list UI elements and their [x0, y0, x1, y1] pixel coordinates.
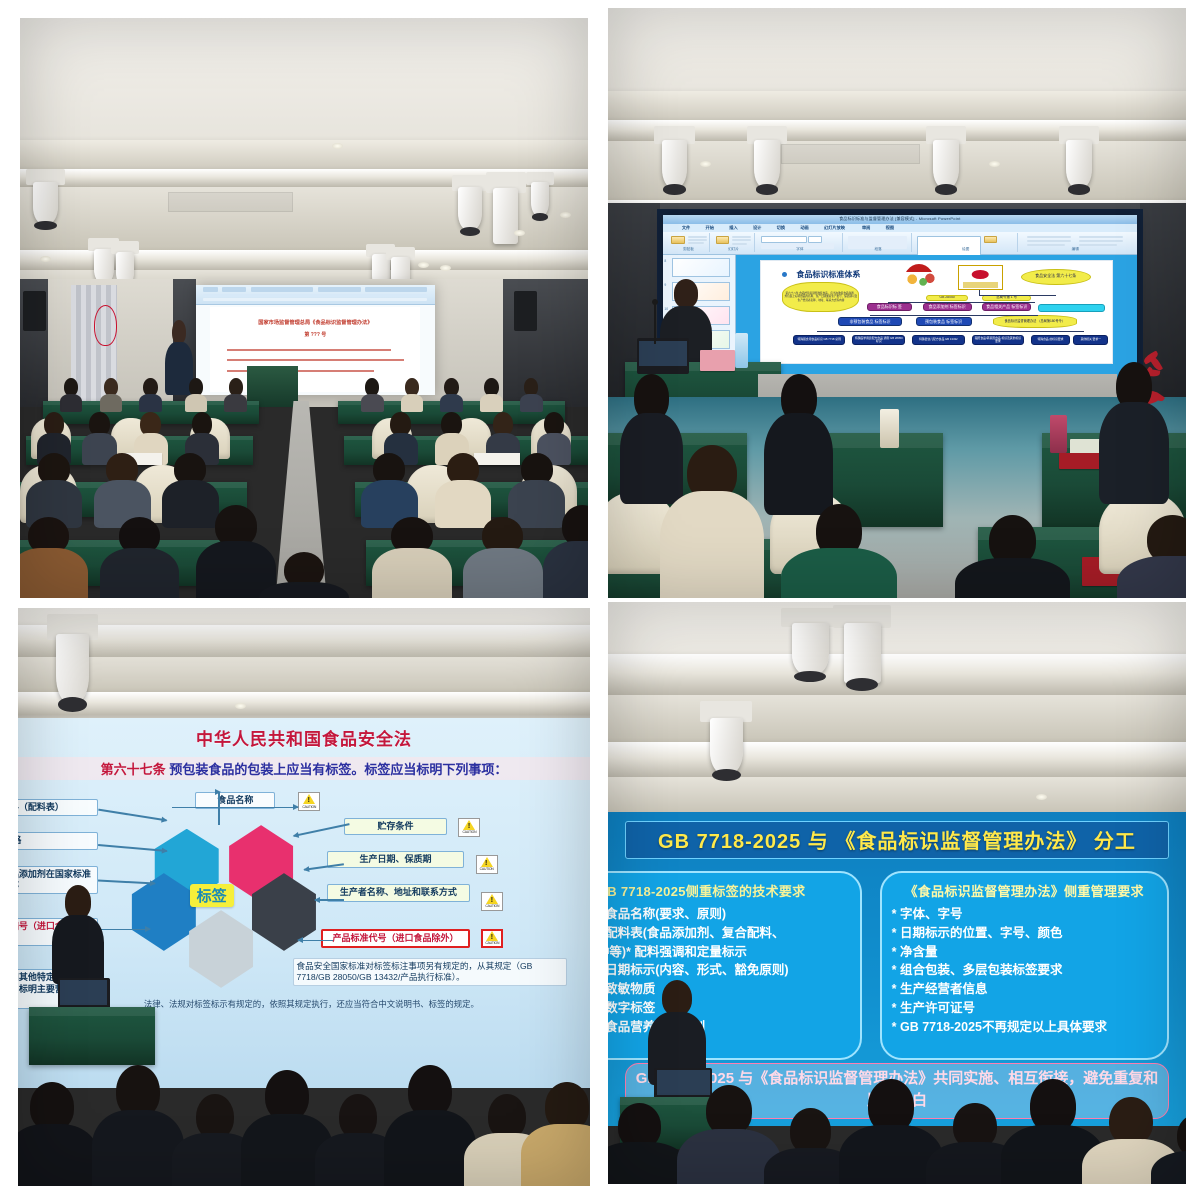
spotlight-icon	[781, 608, 839, 678]
list-item: * 生产经营者信息	[892, 980, 1157, 999]
ribbon-group-drawing: 绘图	[914, 233, 1018, 252]
ceiling-beam	[20, 140, 588, 169]
arrow-connector	[98, 879, 155, 883]
spotlight-icon	[747, 126, 787, 191]
list-item: * 生产许可证号	[892, 999, 1157, 1018]
document-title-line2: 第 ??? 号	[304, 331, 326, 338]
list-item: * 组合包装、多层包装标签要求	[892, 961, 1157, 980]
spotlight-icon	[700, 701, 752, 777]
downlight-icon	[1036, 794, 1047, 800]
node-law-article-68: 第六十八条 食品经营者销售散装食品，应当在散装食品容器、外包装上标明食品的名称、…	[782, 282, 859, 313]
node-infant-formula: 特殊婴幼儿配方食品 GB 13432	[912, 335, 965, 345]
node-standard-code-1: GB 28050	[926, 295, 968, 301]
wall-speaker	[23, 291, 46, 332]
ceiling-soffit	[608, 695, 1186, 742]
audience-person	[1099, 362, 1168, 504]
connector-line	[870, 315, 1038, 316]
connector-line	[888, 302, 889, 304]
node-special-food-req: 特殊食品 的标识要求	[1031, 335, 1070, 345]
ceiling-vent	[781, 144, 920, 165]
caution-icon: CAUTION	[481, 929, 503, 948]
audience-person	[139, 378, 162, 413]
law-book-emblem	[958, 265, 1004, 289]
subtitle-article: 第六十七条	[101, 762, 166, 777]
slide-canvas[interactable]: 食品标识标准体系 食品安全法 第六十七条 第六十八条 食品经营者销售散装食品，应…	[760, 260, 1112, 364]
slide-subtitle: 第六十七条 预包装食品的包装上应当有标签。标签应当标明下列事项：	[18, 757, 590, 780]
node-medical-food: 特殊医学用途配方食品 通则 GB 28050 标识	[852, 335, 905, 345]
right-pane-list: * 字体、字号 * 日期标示的位置、字号、颜色 * 净含量 * 组合包装、多层包…	[892, 905, 1157, 1036]
arrow-connector	[298, 940, 332, 942]
photo-collage: 国家市场监督管理总局《食品标识监督管理办法》 第 ??? 号	[0, 0, 1200, 1200]
ceiling-soffit	[18, 657, 590, 692]
left-pane-list: * 食品名称(要求、原则) * 配料表(食品添加剂、复合配料、 种等)* 配料强…	[608, 905, 850, 1036]
audience-person	[18, 1082, 98, 1186]
microphone-icon	[654, 303, 656, 344]
list-item: * GB 7718-2025不再规定以上具体要求	[892, 1018, 1157, 1037]
red-notebook	[1059, 453, 1105, 468]
wall-speaker	[514, 291, 537, 332]
ceiling-soffit	[608, 777, 1186, 812]
ribbon: 剪贴板 幻灯片 字体	[663, 232, 1137, 255]
arrow-connector	[293, 823, 349, 836]
list-item: * 数字标签	[608, 999, 850, 1018]
list-item: * 食品名称(要求、原则)	[608, 905, 850, 924]
slide-thumbnail[interactable]	[672, 258, 730, 277]
ribbon-group-slides: 幻灯片	[713, 233, 756, 252]
arrow-connector	[98, 809, 166, 821]
slide-title: 食品标识标准体系	[796, 269, 860, 280]
list-item: * 致敏物质	[608, 980, 850, 999]
spotlight-icon	[47, 614, 98, 706]
thermos-cup	[880, 409, 900, 447]
right-item-storage: 贮存条件	[344, 818, 447, 835]
connector-line	[817, 331, 1083, 332]
audience-person	[440, 378, 463, 413]
right-item-production-date: 生产日期、保质期	[327, 851, 464, 868]
slide-title: 中华人民共和国食品安全法	[18, 725, 590, 750]
tab-slideshow[interactable]: 幻灯片放映	[824, 225, 845, 231]
tab-review[interactable]: 审阅	[862, 225, 870, 231]
wall-emblem	[94, 305, 117, 346]
audience-person	[92, 1065, 184, 1186]
tab-insert[interactable]: 插入	[729, 225, 737, 231]
downlight-icon	[440, 265, 451, 271]
document-ribbon	[196, 285, 435, 305]
node-other-req: 其他相关 要求一	[1073, 335, 1108, 345]
spotlight-icon	[926, 126, 966, 191]
caution-icon: CAUTION	[298, 792, 320, 811]
ceiling-beam	[608, 120, 1186, 141]
list-item: * 日期标示(内容、形式、豁免原则)	[608, 961, 850, 980]
connector-line	[888, 302, 1035, 303]
pink-nameplate	[700, 350, 735, 371]
audience-person	[764, 374, 833, 516]
left-item-ingredients: 成分或者配料（配料表）	[18, 799, 98, 816]
audience-person	[463, 517, 543, 598]
document-text-line	[227, 359, 403, 361]
downlight-icon	[332, 143, 343, 149]
food-illustration	[902, 272, 936, 290]
arrow-connector	[172, 807, 298, 809]
audience-person	[401, 378, 424, 413]
connector-line	[979, 295, 1056, 296]
downlight-icon	[40, 256, 51, 262]
audience-person	[100, 378, 123, 413]
node-standard-code-2: 总局令第 1 号	[982, 295, 1031, 301]
list-item: * 字体、字号	[892, 905, 1157, 924]
center-label-tag: 标签	[190, 884, 234, 907]
node-non-prepackaged: 非预包装食品 标签标识	[838, 317, 901, 326]
audience-person	[955, 515, 1071, 598]
tab-design[interactable]: 设计	[753, 225, 761, 231]
audience-person	[224, 378, 247, 413]
left-pane-heading: GB 7718-2025侧重标签的技术要求	[608, 881, 850, 900]
thumbnail-number: 8	[664, 259, 666, 263]
ceiling-beam	[608, 91, 1186, 121]
audience-person	[361, 378, 384, 413]
ribbon-group-font: 字体	[758, 233, 843, 252]
node-related-product-label: 食品相关产品 标签标识	[982, 303, 1031, 311]
ceiling-beam	[18, 625, 590, 657]
audience-person	[372, 517, 452, 598]
connector-line	[947, 302, 948, 304]
list-item: * 食品营养标示原则	[608, 1018, 850, 1037]
tab-transitions[interactable]: 切换	[777, 225, 785, 231]
slide-title: GB 7718-2025 与 《食品标识监督管理办法》 分工	[625, 821, 1168, 859]
node-supervision-measure: 食品标识监督管理办法 （总局第180号令）	[993, 315, 1077, 327]
ceiling-vent	[168, 192, 293, 212]
laptop	[637, 338, 689, 373]
spotlight-icon	[526, 172, 554, 218]
audience-person	[1151, 1114, 1186, 1184]
podium-table	[29, 1007, 155, 1065]
window-title: 食品标识标准与监督管理办法 [兼容模式] - Microsoft PowerPo…	[839, 216, 960, 222]
downlight-icon	[418, 262, 429, 268]
left-pane: GB 7718-2025侧重标签的技术要求 * 食品名称(要求、原则) * 配料…	[608, 871, 862, 1060]
photo-top-right: 食品标识标准与监督管理办法 [兼容模式] - Microsoft PowerPo…	[608, 8, 1186, 598]
slide-footnote: 食品安全国家标准对标签标注事项另有规定的，从其规定（GB 7718/GB 280…	[293, 958, 568, 985]
tab-home[interactable]: 开始	[706, 225, 714, 231]
arrow-connector	[98, 929, 149, 931]
photo-bottom-right: GB 7718-2025 与 《食品标识监督管理办法》 分工 GB 7718-2…	[608, 602, 1186, 1184]
caution-icon: CAUTION	[458, 818, 480, 837]
node-side-note	[1038, 304, 1105, 312]
right-pane: 《食品标识监督管理办法》侧重管理要求 * 字体、字号 * 日期标示的位置、字号、…	[880, 871, 1169, 1060]
document-text-line	[227, 349, 391, 351]
node-label-mark: 食品标识标 签	[867, 303, 913, 311]
spotlight-icon	[1059, 126, 1099, 191]
ribbon-group-paragraph: 段落	[845, 233, 911, 252]
audience-person	[384, 1065, 476, 1186]
arrow-connector	[218, 792, 220, 825]
downlight-icon	[514, 230, 525, 236]
ribbon-group-editing: 编辑	[1023, 233, 1127, 252]
subtitle-text: 预包装食品的包装上应当有标签。标签应当标明下列事项：	[169, 762, 507, 777]
node-prepackaged: 预包装食品 标签标识	[916, 317, 972, 326]
audience-person	[520, 378, 543, 413]
slide-footnote-secondary: 法律、法规对标签标示有规定的，依照其规定执行，还应当符合中文说明书、标签的规定。	[144, 999, 544, 1010]
spotlight-icon	[452, 175, 489, 233]
audience-person	[100, 517, 180, 598]
projector	[486, 172, 526, 247]
thermos-cup	[1050, 415, 1067, 453]
right-item-standard-code: 产品标准代号（进口食品除外）	[321, 929, 470, 948]
audience-person	[781, 504, 897, 598]
right-pane-heading: 《食品标识监督管理办法》侧重管理要求	[892, 881, 1157, 900]
audience-person	[1117, 515, 1186, 598]
audience-person	[259, 552, 350, 598]
list-item: * 日期标示的位置、字号、颜色	[892, 924, 1157, 943]
photo-bottom-left: 中华人民共和国食品安全法 第六十七条 预包装食品的包装上应当有标签。标签应当标明…	[18, 608, 590, 1186]
water-bottle	[735, 333, 748, 368]
document-title-line1: 国家市场监督管理总局《食品标识监督管理办法》	[258, 319, 372, 326]
audience-person	[60, 378, 83, 413]
audience-person	[521, 1082, 590, 1186]
arrow-connector	[315, 899, 344, 901]
presenter	[52, 885, 103, 983]
tab-file[interactable]: 文件	[682, 225, 690, 231]
list-item: 种等)* 配料强调和定量标示	[608, 943, 850, 962]
audience-person	[543, 505, 588, 598]
node-additive-label: 食品添加剂 标签标识	[923, 303, 972, 311]
connector-line	[1007, 302, 1008, 304]
ribbon-group-clipboard: 剪贴板	[668, 233, 711, 252]
audience-person	[20, 517, 88, 598]
list-item: * 净含量	[892, 943, 1157, 962]
list-item: * 配料表(食品添加剂、复合配料、	[608, 924, 850, 943]
node-food-safety-law: 食品安全法 第六十七条	[1021, 269, 1091, 285]
tab-animations[interactable]: 动画	[800, 225, 808, 231]
caution-icon: CAUTION	[481, 892, 503, 911]
window-titlebar: 食品标识标准与监督管理办法 [兼容模式] - Microsoft PowerPo…	[663, 215, 1137, 225]
projector	[833, 605, 891, 686]
node-irradiated-gmo: 辐照食品/转基因食品 标识及其他标识要求	[972, 335, 1025, 345]
slide-title-bullet-icon	[782, 272, 787, 277]
right-item-producer-info: 生产者名称、地址和联系方式	[327, 884, 470, 901]
audience-person	[660, 445, 764, 598]
left-item-netcontent: 净含量 、规格	[18, 832, 98, 849]
spotlight-icon	[654, 126, 694, 191]
audience-person	[480, 378, 503, 413]
photo-top-left: 国家市场监督管理总局《食品标识监督管理办法》 第 ??? 号	[20, 18, 588, 598]
ceiling-beam	[18, 692, 590, 715]
ceiling-beam	[608, 654, 1186, 695]
spotlight-icon	[26, 169, 66, 227]
audience-person	[185, 378, 208, 413]
ceiling-beam	[608, 742, 1186, 777]
ribbon-tabs: 文件 开始 插入 设计 切换 动画 幻灯片放映 审阅 视图	[663, 224, 1137, 232]
tab-view[interactable]: 视图	[886, 225, 894, 231]
caution-icon: CAUTION	[476, 855, 498, 874]
node-special-diet: 特殊膳食用食品标识 GB 7718 总则	[793, 335, 846, 345]
slide-editing-area[interactable]: 食品标识标准体系 食品安全法 第六十七条 第六十八条 食品经营者销售散装食品，应…	[736, 255, 1137, 382]
